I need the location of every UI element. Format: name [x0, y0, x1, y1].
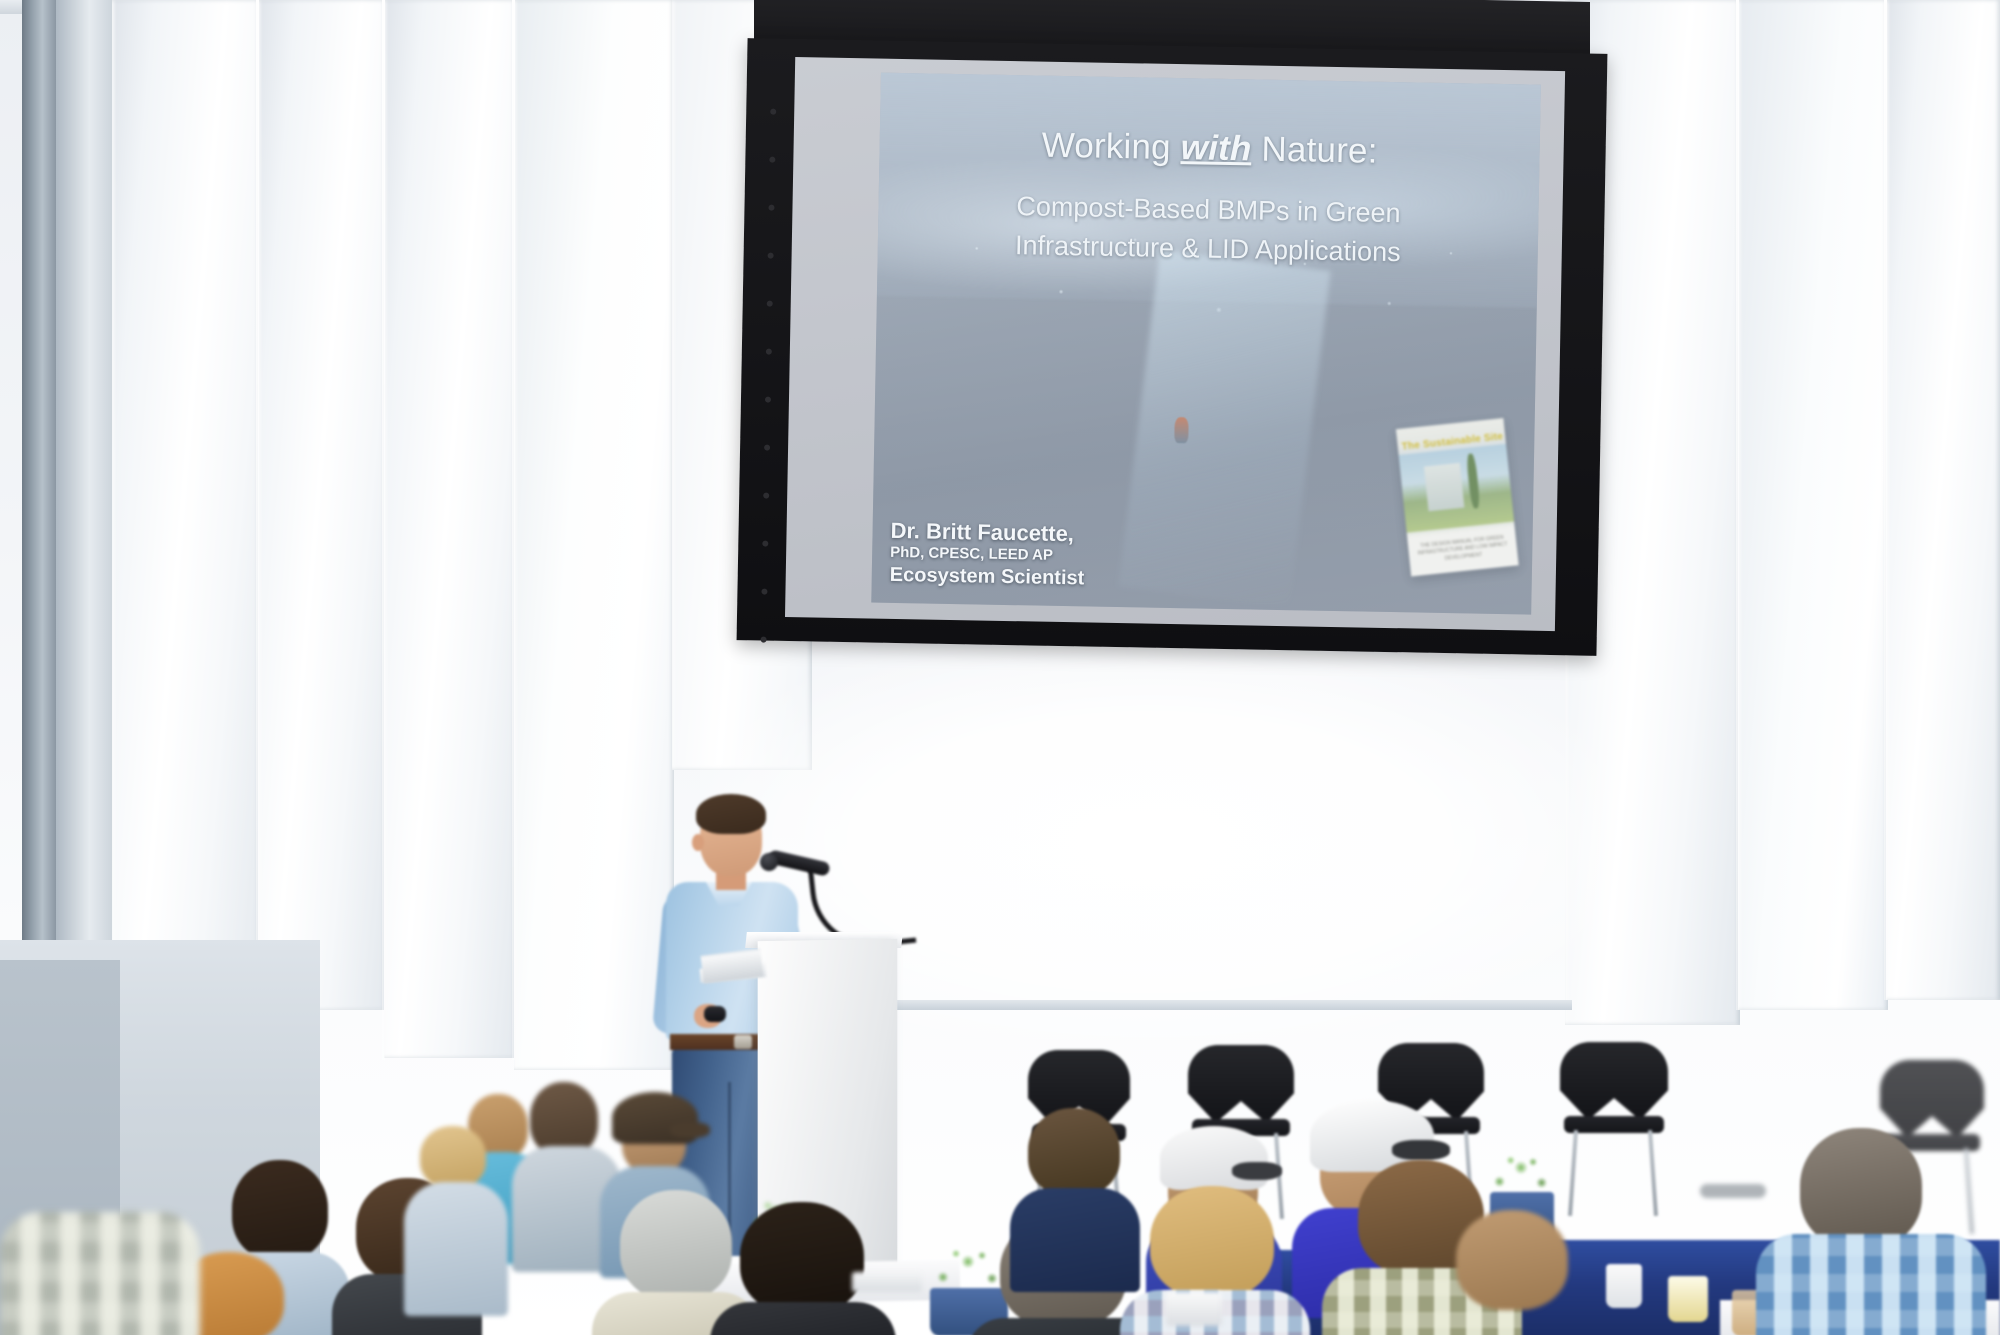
slide-presenter-credits: Dr. Britt Faucette, PhD, CPESC, LEED AP … — [890, 518, 1086, 590]
screen-surface: Working with Nature: Compost-Based BMPs … — [785, 57, 1565, 631]
paper-cup — [1166, 1292, 1222, 1326]
slide-title-emphasis: with — [1180, 128, 1251, 168]
audience-head — [1456, 1210, 1568, 1310]
slide-subtitle: Compost-Based BMPs in Green Infrastructu… — [903, 185, 1512, 274]
presentation-slide: Working with Nature: Compost-Based BMPs … — [871, 73, 1541, 615]
audience-torso — [404, 1182, 508, 1316]
audience-torso-plaid — [1756, 1234, 1986, 1335]
shade-seam — [1884, 0, 1887, 1000]
cap-brim — [1392, 1140, 1450, 1160]
presenter-clicker — [704, 1006, 726, 1022]
slide-book-cover: The Sustainable Site THE DESIGN MANUAL F… — [1396, 418, 1519, 576]
snack-cup — [1668, 1276, 1708, 1322]
book-cover-photo — [1399, 444, 1515, 533]
audience-member — [1756, 1128, 1986, 1335]
audience-head — [1028, 1108, 1120, 1196]
chair-back — [1188, 1045, 1294, 1123]
structural-column — [56, 0, 112, 985]
window-shade-1 — [112, 0, 260, 1045]
projection-screen-assembly: Working with Nature: Compost-Based BMPs … — [726, 0, 1618, 694]
shade-seam — [1736, 0, 1739, 1010]
slide-surfer-figure — [1175, 417, 1189, 443]
audience-torso — [710, 1302, 896, 1335]
audience-torso-check — [0, 1212, 200, 1335]
presenter-hair — [696, 794, 766, 834]
screen-snap-grommets — [756, 99, 781, 679]
chair-back — [1560, 1042, 1668, 1120]
shade-seam — [512, 0, 515, 1060]
audience-eyeglasses — [1700, 1166, 1790, 1236]
notepad — [852, 1272, 922, 1292]
drink-cup — [1606, 1264, 1642, 1308]
audience-head — [740, 1202, 864, 1314]
cap-brim — [670, 1122, 710, 1138]
audience-head — [530, 1082, 598, 1156]
audience-member — [710, 1202, 896, 1335]
screen-border: Working with Nature: Compost-Based BMPs … — [737, 38, 1608, 656]
baseball-cap — [612, 1092, 698, 1144]
chair-legs — [1560, 1130, 1668, 1216]
chair-back — [1880, 1060, 1984, 1138]
presenter-ear — [692, 834, 704, 851]
presenter-belt-buckle — [734, 1035, 752, 1049]
audience-head — [420, 1126, 486, 1188]
audience-head — [232, 1160, 328, 1260]
stacking-chair — [1560, 1042, 1668, 1222]
window-mullion-outer — [22, 0, 56, 970]
window-sill — [812, 1000, 1572, 1010]
shade-seam — [256, 0, 259, 1060]
audience-head — [1150, 1186, 1274, 1298]
eyeglasses-frame — [1700, 1184, 1766, 1198]
audience-head — [1800, 1128, 1922, 1248]
presenter-name: Dr. Britt Faucette, — [890, 518, 1085, 548]
window-shade-7 — [1738, 0, 1888, 1010]
cap-brim — [1232, 1162, 1282, 1180]
window-shade-3 — [384, 0, 516, 1058]
audience-member-foreground — [0, 1212, 200, 1335]
audience-member — [404, 1126, 508, 1316]
conference-room-photo: Working with Nature: Compost-Based BMPs … — [0, 0, 2000, 1335]
shade-seam — [382, 0, 385, 1060]
presenter-role: Ecosystem Scientist — [890, 563, 1085, 591]
slide-title-part-2: Nature: — [1251, 129, 1378, 170]
slide-title-part-1: Working — [1041, 126, 1181, 168]
book-cover-subtitle: THE DESIGN MANUAL FOR GREEN INFRASTRUCTU… — [1416, 534, 1510, 566]
window-shade-8 — [1886, 0, 2000, 1000]
audience-member — [1430, 1210, 1610, 1335]
trucker-cap — [1160, 1126, 1268, 1190]
window-shade-2 — [258, 0, 386, 1010]
